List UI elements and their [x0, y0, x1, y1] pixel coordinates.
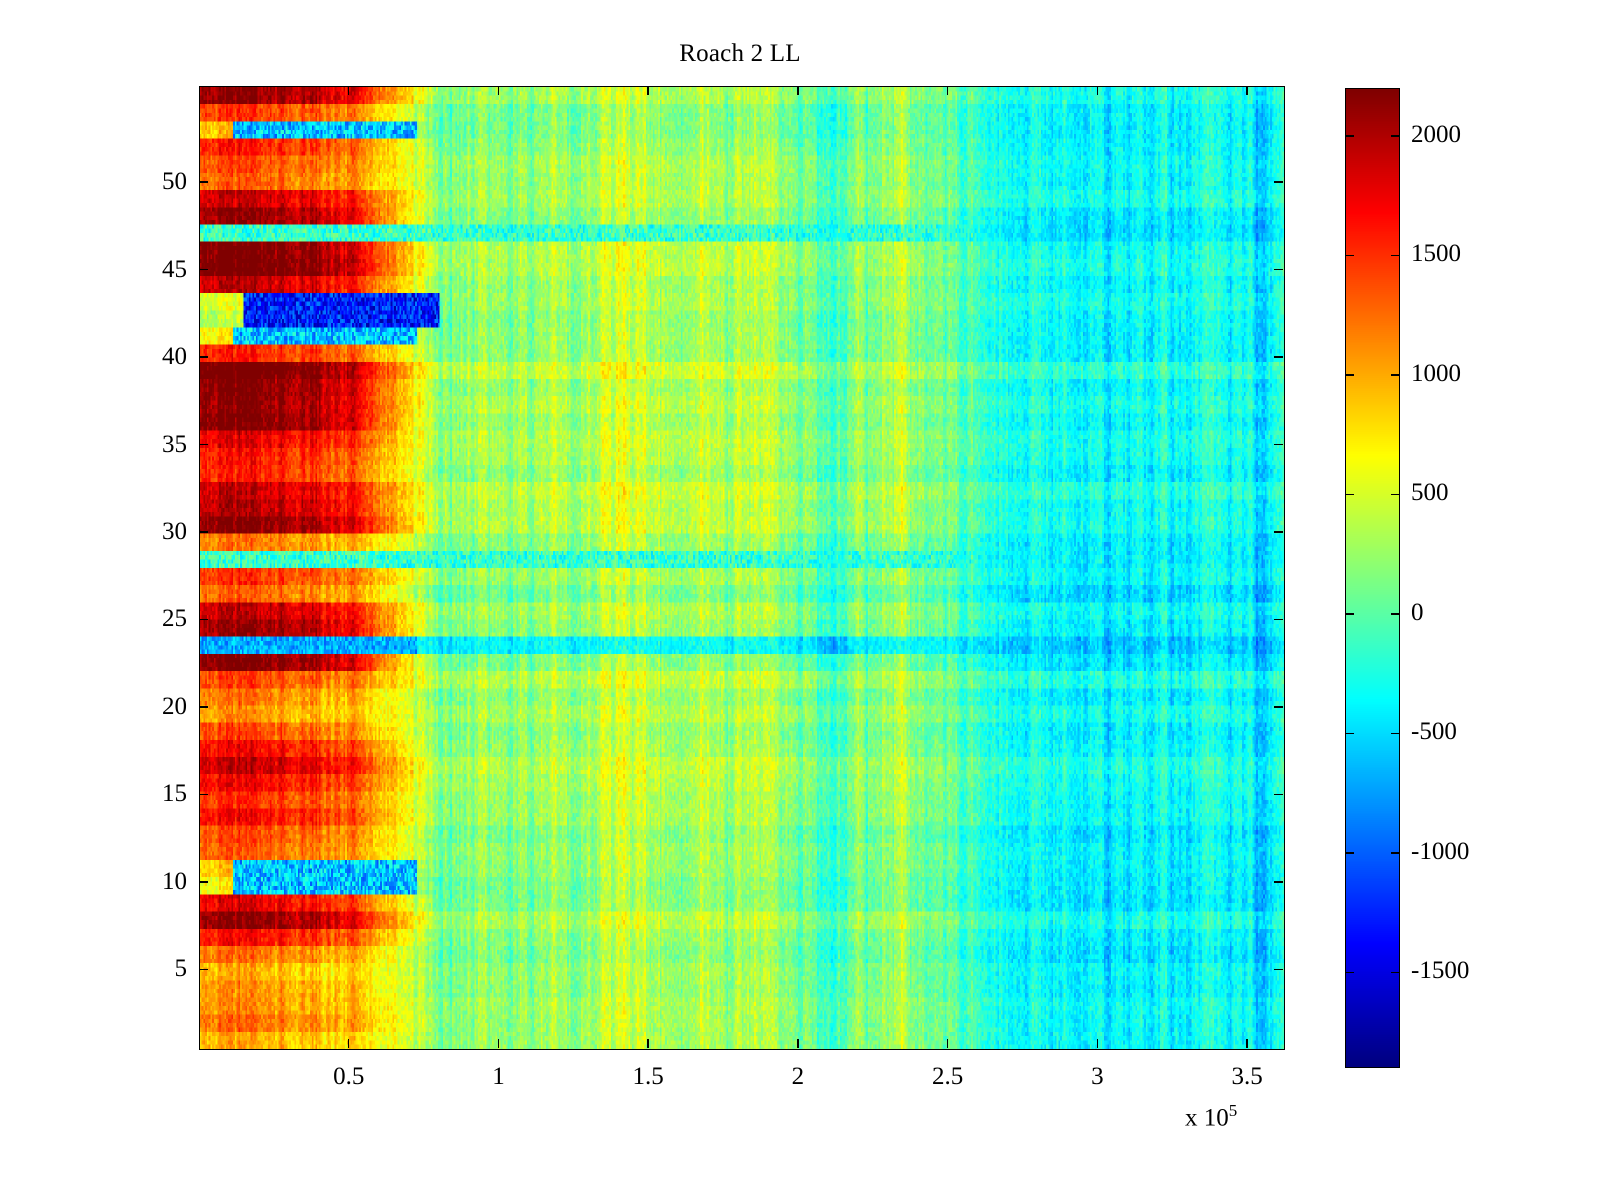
colorbar-tick-label: -1000: [1411, 839, 1469, 864]
y-tick-mark: [1274, 269, 1283, 271]
x-tick-mark: [348, 1039, 350, 1048]
y-tick-label: 10: [127, 869, 187, 894]
colorbar-tick-mark: [1345, 494, 1354, 496]
x-tick-label: 2: [738, 1064, 858, 1089]
y-tick-mark: [199, 269, 208, 271]
y-tick-label: 50: [127, 169, 187, 194]
x-tick-mark: [498, 86, 500, 95]
x-tick-label: 1: [438, 1064, 558, 1089]
x-tick-mark: [498, 1039, 500, 1048]
y-tick-mark: [199, 969, 208, 971]
colorbar-tick-label: 0: [1411, 600, 1424, 625]
x-tick-mark: [797, 86, 799, 95]
x-tick-label: 1.5: [588, 1064, 708, 1089]
colorbar-tick-mark: [1345, 255, 1354, 257]
colorbar-tick-mark: [1391, 733, 1400, 735]
colorbar-tick-mark: [1391, 135, 1400, 137]
x-tick-label: 2.5: [888, 1064, 1008, 1089]
x-tick-mark: [647, 1039, 649, 1048]
y-tick-mark: [199, 444, 208, 446]
y-tick-label: 30: [127, 519, 187, 544]
y-tick-mark: [199, 706, 208, 708]
heatmap-pixels: [200, 87, 1284, 1049]
y-tick-mark: [199, 531, 208, 533]
colorbar-tick-mark: [1391, 972, 1400, 974]
colorbar-tick-mark: [1345, 852, 1354, 854]
colorbar[interactable]: [1345, 88, 1400, 1068]
y-tick-mark: [1274, 794, 1283, 796]
colorbar-tick-mark: [1391, 613, 1400, 615]
y-tick-mark: [1274, 706, 1283, 708]
y-tick-mark: [1274, 969, 1283, 971]
y-tick-label: 15: [127, 781, 187, 806]
y-tick-mark: [199, 356, 208, 358]
colorbar-tick-mark: [1391, 374, 1400, 376]
colorbar-tick-mark: [1391, 255, 1400, 257]
y-tick-label: 20: [127, 694, 187, 719]
x-tick-mark: [947, 86, 949, 95]
y-tick-mark: [199, 881, 208, 883]
page-title: Roach 2 LL: [0, 40, 1480, 68]
y-tick-label: 45: [127, 257, 187, 282]
y-tick-label: 40: [127, 344, 187, 369]
y-tick-mark: [1274, 181, 1283, 183]
x-tick-mark: [947, 1039, 949, 1048]
y-tick-mark: [199, 619, 208, 621]
y-tick-label: 25: [127, 606, 187, 631]
colorbar-tick-mark: [1345, 972, 1354, 974]
y-tick-mark: [1274, 531, 1283, 533]
y-tick-mark: [1274, 444, 1283, 446]
colorbar-tick-label: -1500: [1411, 958, 1469, 983]
colorbar-tick-mark: [1391, 494, 1400, 496]
colorbar-tick-label: -500: [1411, 719, 1457, 744]
x-multiplier-exponent: 5: [1229, 1101, 1238, 1120]
x-multiplier-text: x 10: [1185, 1104, 1229, 1131]
colorbar-tick-mark: [1391, 852, 1400, 854]
colorbar-gradient: [1345, 88, 1400, 1068]
y-tick-label: 35: [127, 432, 187, 457]
colorbar-tick-mark: [1345, 135, 1354, 137]
figure-canvas: Roach 2 LL 5101520253035404550 0.511.522…: [0, 0, 1600, 1200]
heatmap-axes[interactable]: [199, 86, 1285, 1050]
colorbar-tick-label: 500: [1411, 480, 1449, 505]
y-tick-label: 5: [127, 956, 187, 981]
x-tick-mark: [797, 1039, 799, 1048]
x-tick-mark: [1097, 86, 1099, 95]
colorbar-tick-mark: [1345, 374, 1354, 376]
x-tick-mark: [647, 86, 649, 95]
colorbar-tick-label: 2000: [1411, 122, 1461, 147]
colorbar-tick-mark: [1345, 733, 1354, 735]
heatmap-image: [200, 87, 1284, 1049]
x-tick-label: 3: [1037, 1064, 1157, 1089]
x-tick-mark: [1246, 1039, 1248, 1048]
y-tick-mark: [1274, 619, 1283, 621]
x-tick-mark: [348, 86, 350, 95]
x-tick-mark: [1246, 86, 1248, 95]
x-tick-label: 3.5: [1187, 1064, 1307, 1089]
x-axis-multiplier: x 105: [1185, 1101, 1237, 1132]
colorbar-tick-label: 1000: [1411, 361, 1461, 386]
x-tick-mark: [1097, 1039, 1099, 1048]
y-tick-mark: [1274, 881, 1283, 883]
colorbar-tick-mark: [1345, 613, 1354, 615]
y-tick-mark: [1274, 356, 1283, 358]
colorbar-tick-label: 1500: [1411, 241, 1461, 266]
x-tick-label: 0.5: [289, 1064, 409, 1089]
y-tick-mark: [199, 181, 208, 183]
y-tick-mark: [199, 794, 208, 796]
